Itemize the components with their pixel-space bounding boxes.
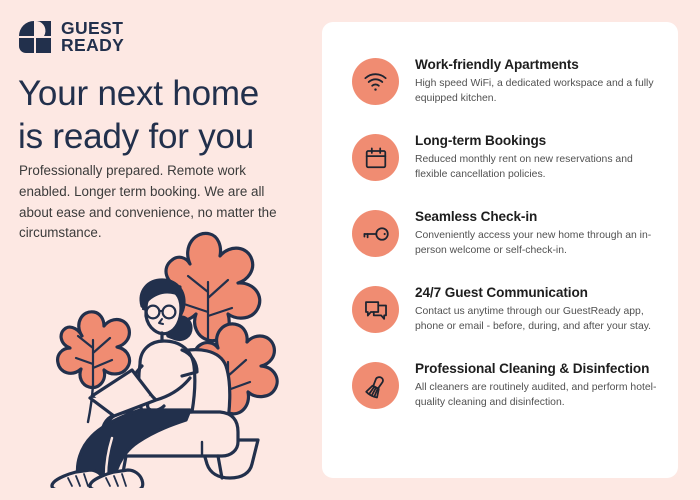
- feature-body: Long-term Bookings Reduced monthly rent …: [415, 132, 662, 183]
- list-item[interactable]: Work-friendly Apartments High speed WiFi…: [352, 56, 662, 111]
- guestready-quadrant-logo-icon: [18, 20, 52, 54]
- broom-icon: [352, 362, 399, 409]
- wifi-icon: [352, 58, 399, 105]
- remote-work-illustration: [22, 220, 322, 488]
- feature-body: Seamless Check-in Conveniently access yo…: [415, 208, 662, 259]
- feature-description: Conveniently access your new home throug…: [415, 229, 662, 259]
- chat-bubbles-icon: [352, 286, 399, 333]
- feature-title: Professional Cleaning & Disinfection: [415, 361, 662, 378]
- feature-body: Professional Cleaning & Disinfection All…: [415, 360, 662, 411]
- feature-description: High speed WiFi, a dedicated workspace a…: [415, 77, 662, 107]
- brand-wordmark: GUEST READY: [61, 20, 124, 53]
- feature-description: All cleaners are routinely audited, and …: [415, 381, 662, 411]
- feature-body: Work-friendly Apartments High speed WiFi…: [415, 56, 662, 107]
- features-card: Work-friendly Apartments High speed WiFi…: [322, 22, 678, 478]
- headline-line-1: Your next home: [18, 74, 259, 113]
- list-item[interactable]: Seamless Check-in Conveniently access yo…: [352, 208, 662, 263]
- feature-title: Seamless Check-in: [415, 209, 662, 226]
- feature-description: Contact us anytime through our GuestRead…: [415, 305, 662, 335]
- feature-body: 24/7 Guest Communication Contact us anyt…: [415, 284, 662, 335]
- list-item[interactable]: 24/7 Guest Communication Contact us anyt…: [352, 284, 662, 339]
- page-title: Your next home is ready for you: [18, 72, 308, 159]
- list-item[interactable]: Long-term Bookings Reduced monthly rent …: [352, 132, 662, 187]
- promo-banner: GUEST READY Your next home is ready for …: [0, 0, 700, 500]
- list-item[interactable]: Professional Cleaning & Disinfection All…: [352, 360, 662, 415]
- feature-title: 24/7 Guest Communication: [415, 285, 662, 302]
- brand-name-line-2: READY: [61, 37, 124, 54]
- brand-lockup[interactable]: GUEST READY: [18, 20, 124, 54]
- feature-title: Long-term Bookings: [415, 133, 662, 150]
- feature-title: Work-friendly Apartments: [415, 57, 662, 74]
- calendar-icon: [352, 134, 399, 181]
- feature-list: Work-friendly Apartments High speed WiFi…: [322, 22, 678, 478]
- hero-column: GUEST READY Your next home is ready for …: [0, 0, 322, 500]
- key-icon: [352, 210, 399, 257]
- headline-line-2: is ready for you: [18, 115, 308, 158]
- feature-description: Reduced monthly rent on new reservations…: [415, 153, 662, 183]
